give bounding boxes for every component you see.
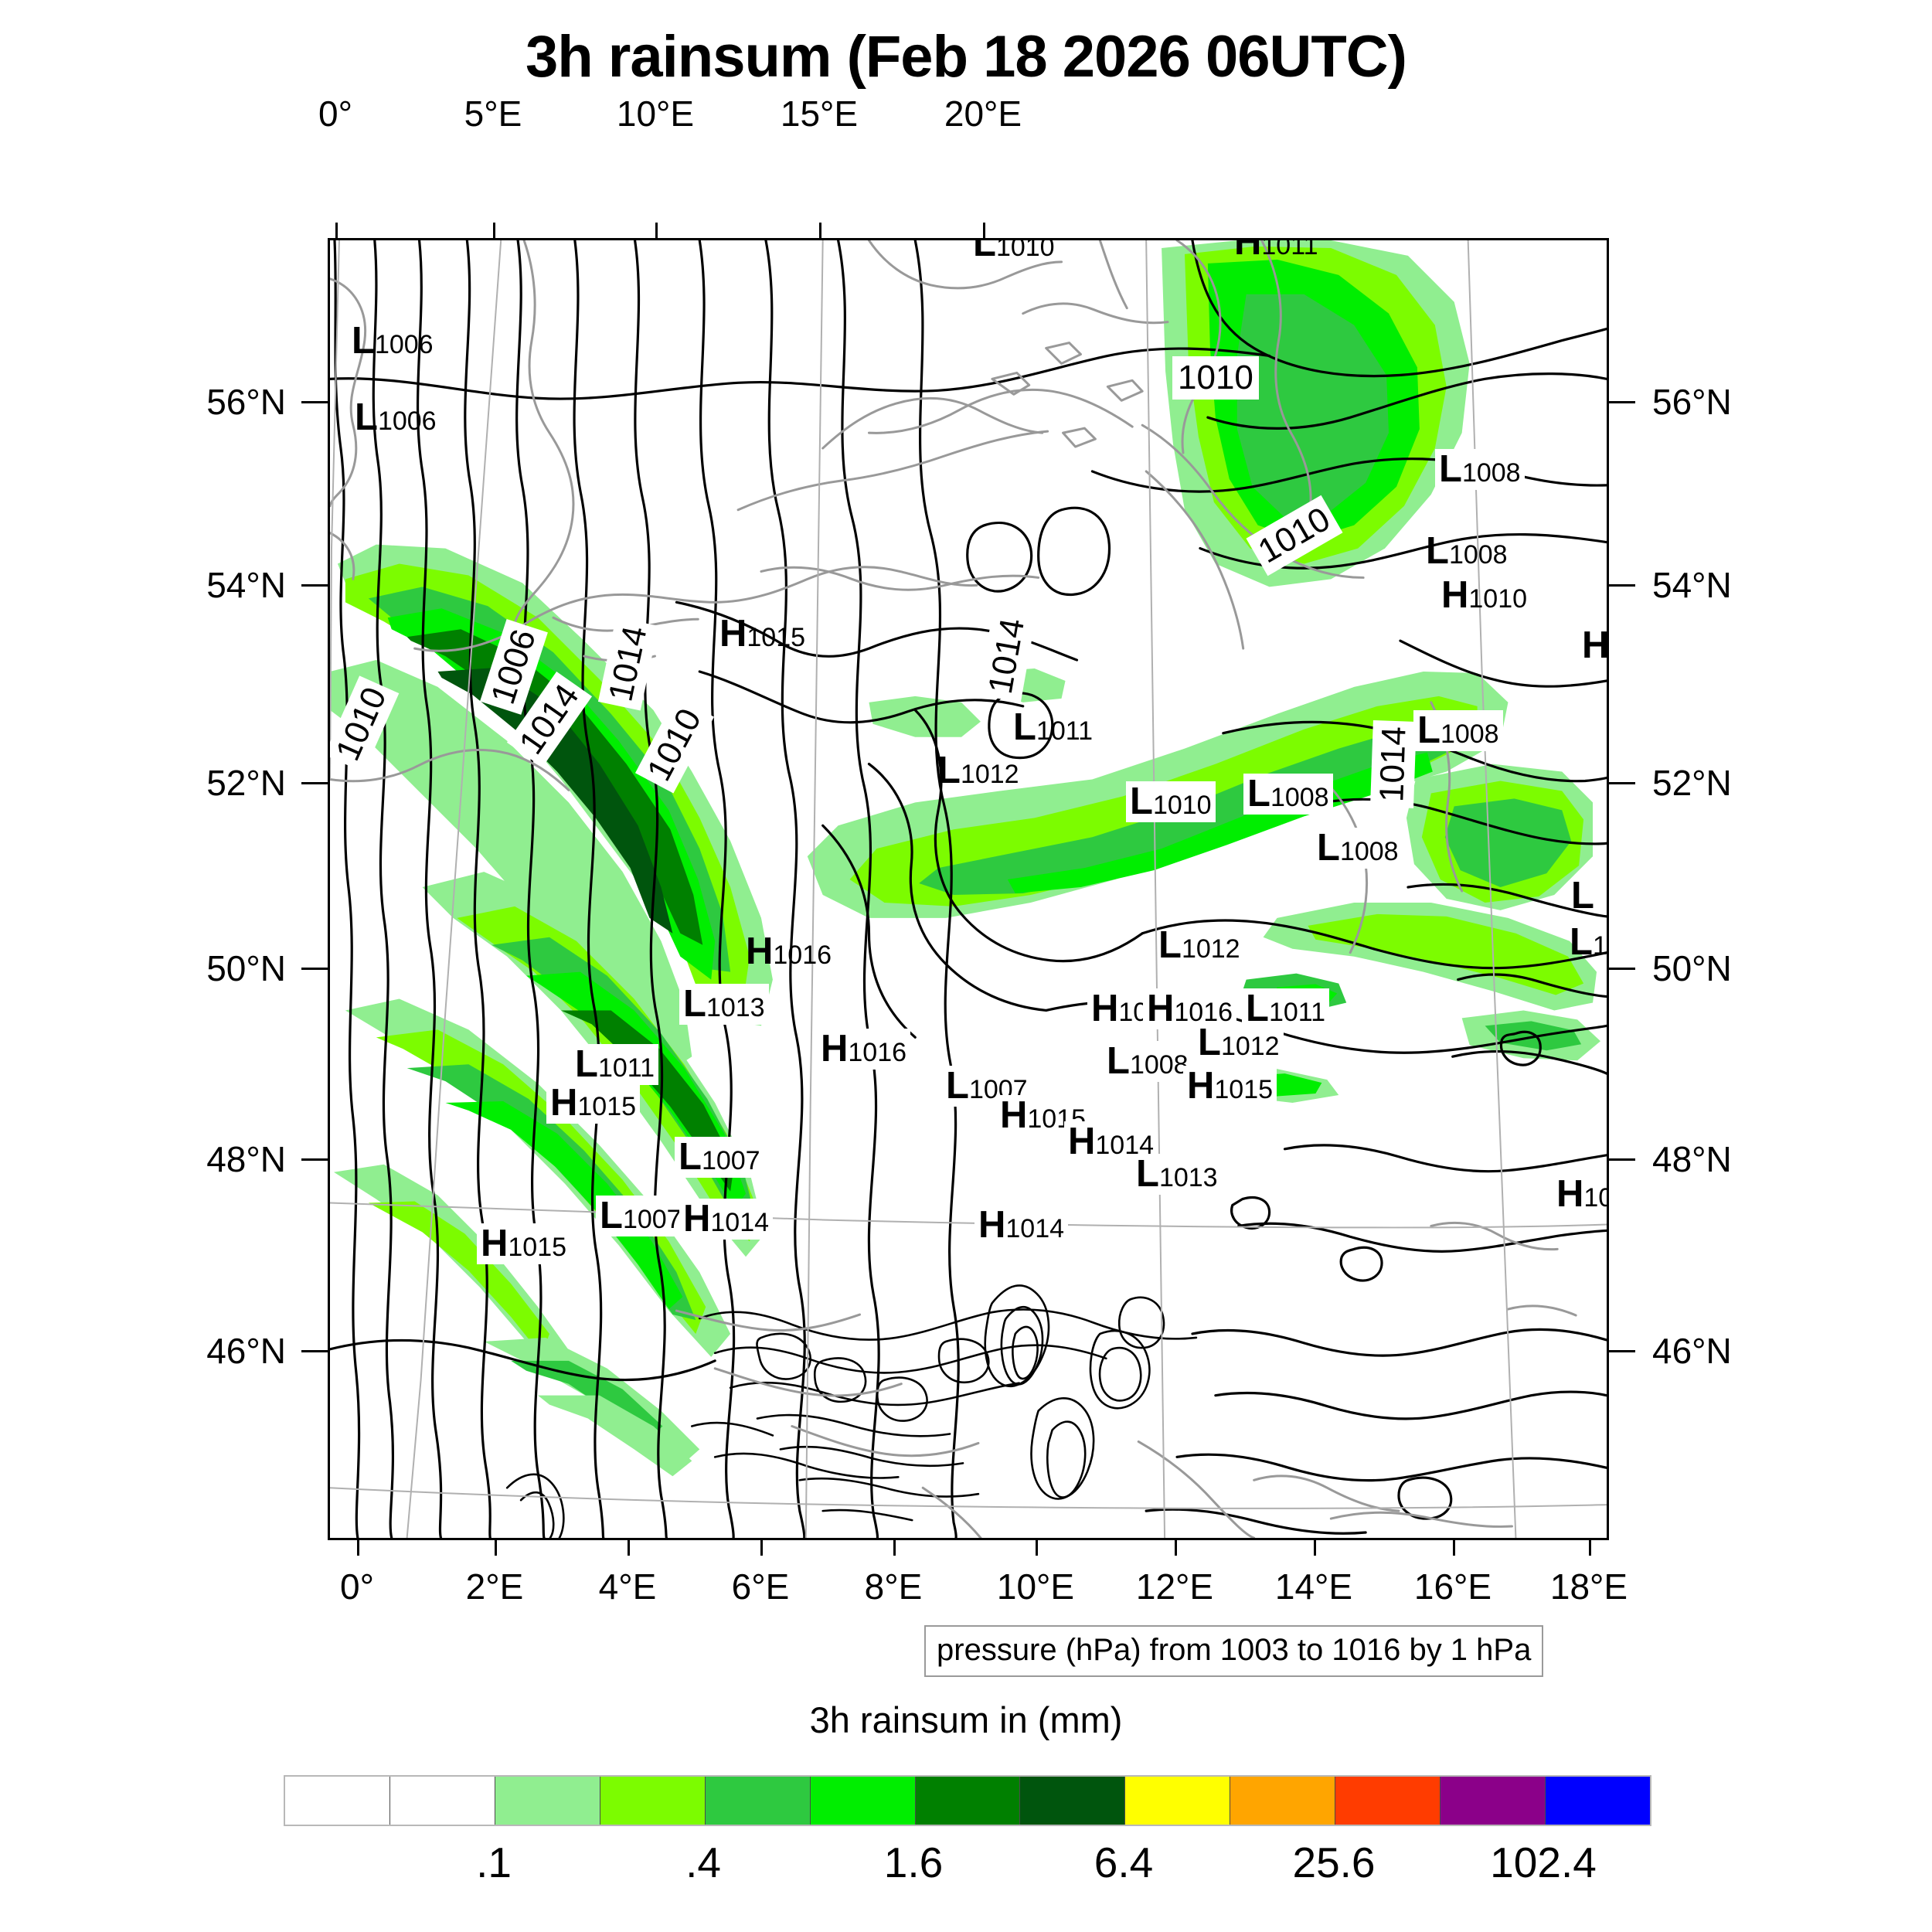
tick-right-5: 46°N [1652, 1330, 1732, 1372]
tick-bottom-mark-6 [1175, 1540, 1177, 1556]
colorbar-label-3: 6.4 [1094, 1838, 1153, 1887]
tick-top-mark-3 [819, 223, 821, 238]
colorbar-label-2: 1.6 [884, 1838, 943, 1887]
pressure-center-L-1012-germany: L1012 [937, 752, 1019, 790]
pressure-center-H-1011-sweden: H1011 [1234, 238, 1318, 261]
pressure-center-L-1007-south: L1007 [596, 1196, 685, 1236]
pressure-center-H-1015-sw: H1015 [477, 1223, 570, 1264]
colorbar-cell-11[interactable] [1440, 1777, 1546, 1825]
colorbar-cell-4[interactable] [706, 1777, 811, 1825]
tick-top-mark-0 [335, 223, 338, 238]
colorbar-caption: 3h rainsum in (mm) [0, 1699, 1932, 1741]
tick-left-5: 46°N [206, 1330, 286, 1372]
tick-bottom-mark-8 [1453, 1540, 1455, 1556]
pressure-center-L-1011-france-s: L1011 [571, 1044, 658, 1085]
colorbar-cell-12[interactable] [1546, 1777, 1650, 1825]
tick-top-mark-2 [655, 223, 658, 238]
tick-bottom-mark-9 [1589, 1540, 1591, 1556]
tick-right-0: 56°N [1652, 381, 1732, 423]
tick-bottom-8: 16°E [1414, 1566, 1492, 1607]
tick-bottom-0: 0° [340, 1566, 374, 1607]
map-canvas [330, 240, 1607, 1538]
tick-bottom-mark-3 [760, 1540, 763, 1556]
pressure-center-H-1014-adriatic: H1014 [975, 1205, 1068, 1246]
pressure-center-L-edge-1: L [1571, 877, 1594, 915]
pressure-center-L-edge-2: L10 [1570, 923, 1609, 961]
tick-top-0: 0° [318, 93, 352, 134]
colorbar-cell-0[interactable] [285, 1777, 390, 1825]
pressure-center-L-1006-south: L1006 [355, 399, 437, 437]
tick-left-mark-0 [301, 401, 328, 403]
tick-left-3: 50°N [206, 947, 286, 989]
pressure-center-H-1015-nl: H1015 [719, 615, 805, 653]
tick-left-mark-1 [301, 584, 328, 587]
map-plot-area[interactable]: L1006 L1006 L1010 H1011 L1008 L1008 H101… [328, 238, 1609, 1540]
tick-right-3: 50°N [1652, 947, 1732, 989]
tick-right-2: 52°N [1652, 762, 1732, 804]
tick-top-mark-4 [983, 223, 985, 238]
colorbar-cell-2[interactable] [495, 1777, 600, 1825]
pressure-center-L-1006-north: L1006 [352, 322, 434, 360]
pressure-center-L-1010-denmark: L1010 [973, 238, 1055, 263]
tick-right-mark-3 [1609, 968, 1635, 970]
colorbar-cell-6[interactable] [916, 1777, 1021, 1825]
contour-label-1010-baltic: 1010 [1172, 356, 1259, 400]
tick-bottom-5: 10°E [997, 1566, 1074, 1607]
colorbar-label-4: 25.6 [1292, 1838, 1375, 1887]
tick-left-0: 56°N [206, 381, 286, 423]
tick-right-mark-4 [1609, 1158, 1635, 1161]
pressure-center-L-1010-saxony: L1010 [1126, 781, 1216, 822]
tick-bottom-mark-5 [1036, 1540, 1038, 1556]
tick-left-mark-5 [301, 1350, 328, 1352]
contour-label-1014-east: 1014 [1370, 720, 1417, 808]
colorbar-label-5: 102.4 [1490, 1838, 1597, 1887]
tick-bottom-9: 18°E [1550, 1566, 1628, 1607]
tick-left-mark-4 [301, 1158, 328, 1161]
pressure-center-H-10-alps: H10 [1087, 988, 1151, 1029]
tick-left-mark-3 [301, 968, 328, 970]
pressure-center-L-1007-alps-w: L1007 [675, 1137, 764, 1178]
pressure-center-H-1016-alps-w: H1016 [817, 1029, 910, 1070]
colorbar-cell-8[interactable] [1125, 1777, 1230, 1825]
colorbar-label-0: .1 [476, 1838, 512, 1887]
pressure-center-L-1008-baltic: L1008 [1435, 449, 1525, 490]
colorbar-tick-labels: .1 .4 1.6 6.4 25.6 102.4 [284, 1838, 1648, 1907]
tick-right-mark-2 [1609, 782, 1635, 784]
tick-left-1: 54°N [206, 564, 286, 606]
pressure-center-L-1008-krakow: L1008 [1313, 828, 1403, 869]
tick-bottom-mark-1 [495, 1540, 497, 1556]
pressure-center-L-1008-alps: L1008 [1103, 1041, 1192, 1082]
tick-right-mark-0 [1609, 401, 1635, 403]
colorbar-cell-1[interactable] [390, 1777, 495, 1825]
tick-right-4: 48°N [1652, 1138, 1732, 1180]
tick-left-4: 48°N [206, 1138, 286, 1180]
pressure-center-L-1008-silesia: L1008 [1243, 774, 1333, 815]
pressure-center-L-1008-poland-n: L1008 [1413, 710, 1503, 751]
weather-chart-page: 3h rainsum (Feb 18 2026 06UTC) [0, 0, 1932, 1932]
tick-top-1: 5°E [464, 93, 522, 134]
tick-right-mark-5 [1609, 1350, 1635, 1352]
tick-bottom-7: 14°E [1275, 1566, 1352, 1607]
tick-bottom-4: 8°E [865, 1566, 923, 1607]
tick-bottom-mark-2 [628, 1540, 630, 1556]
tick-left-2: 52°N [206, 762, 286, 804]
page-title: 3h rainsum (Feb 18 2026 06UTC) [0, 23, 1932, 90]
tick-bottom-2: 4°E [599, 1566, 657, 1607]
pressure-center-L-1012-austria: L1012 [1194, 1022, 1284, 1063]
colorbar-cell-7[interactable] [1020, 1777, 1125, 1825]
pressure-center-L-1013-france: L1013 [679, 984, 769, 1025]
pressure-center-H-1015-hungary: H1015 [1183, 1066, 1277, 1107]
pressure-center-L-1011-germany: L1011 [1013, 709, 1093, 747]
pressure-legend-box: pressure (hPa) from 1003 to 1016 by 1 hP… [924, 1625, 1543, 1677]
tick-top-3: 15°E [781, 93, 858, 134]
pressure-center-L-1012-czech: L1012 [1158, 927, 1240, 964]
pressure-center-L-1013-balkan: L1013 [1132, 1154, 1222, 1195]
pressure-center-H-1010-ne: H1010 [1441, 577, 1527, 614]
pressure-center-H-1014-south: H1014 [679, 1199, 773, 1240]
colorbar-cell-10[interactable] [1335, 1777, 1440, 1825]
tick-bottom-mark-7 [1314, 1540, 1316, 1556]
pressure-center-H-edge: H [1582, 627, 1609, 665]
pressure-center-H-1016-se: H1016 [1553, 1174, 1609, 1215]
tick-bottom-mark-4 [893, 1540, 896, 1556]
colorbar-label-1: .4 [685, 1838, 721, 1887]
tick-top-mark-1 [493, 223, 495, 238]
tick-bottom-6: 12°E [1136, 1566, 1213, 1607]
tick-right-mark-1 [1609, 584, 1635, 587]
tick-bottom-mark-0 [357, 1540, 359, 1556]
colorbar[interactable] [284, 1775, 1651, 1826]
pressure-center-H-1015-france: H1015 [546, 1083, 640, 1124]
tick-right-1: 54°N [1652, 564, 1732, 606]
colorbar-cell-9[interactable] [1230, 1777, 1335, 1825]
tick-left-mark-2 [301, 782, 328, 784]
tick-bottom-1: 2°E [466, 1566, 524, 1607]
pressure-center-L-1008-lithuania: L1008 [1426, 532, 1508, 570]
colorbar-cell-5[interactable] [811, 1777, 916, 1825]
colorbar-cell-3[interactable] [600, 1777, 706, 1825]
tick-bottom-3: 6°E [732, 1566, 790, 1607]
tick-top-2: 10°E [617, 93, 694, 134]
pressure-center-H-1016-swiss: H1016 [746, 933, 832, 971]
tick-top-4: 20°E [944, 93, 1022, 134]
